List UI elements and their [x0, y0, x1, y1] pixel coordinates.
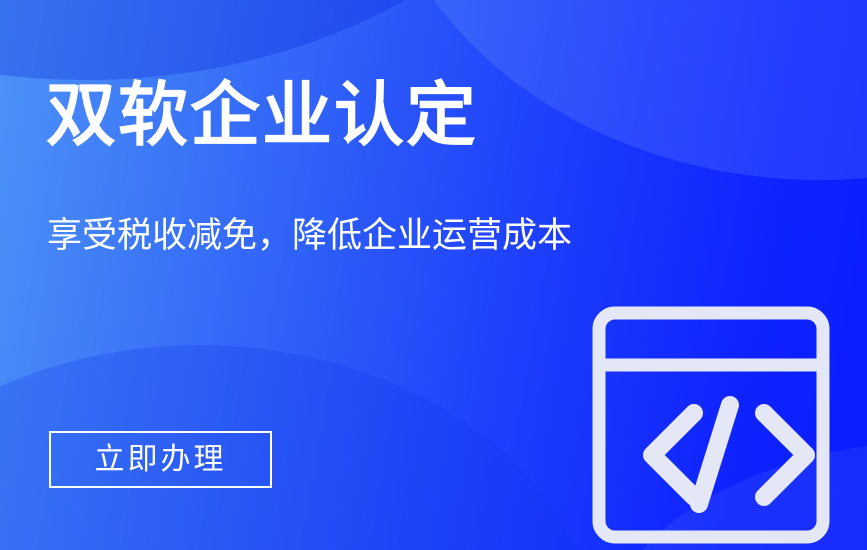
banner-headline: 双软企业认定 — [46, 80, 478, 150]
apply-now-button[interactable]: 立即办理 — [49, 431, 272, 488]
banner-content: 双软企业认定 享受税收减免，降低企业运营成本 立即办理 — [46, 0, 606, 550]
promo-banner: 双软企业认定 享受税收减免，降低企业运营成本 立即办理 — [0, 0, 867, 550]
banner-subheadline: 享受税收减免，降低企业运营成本 — [47, 216, 572, 256]
code-window-icon — [586, 300, 836, 550]
